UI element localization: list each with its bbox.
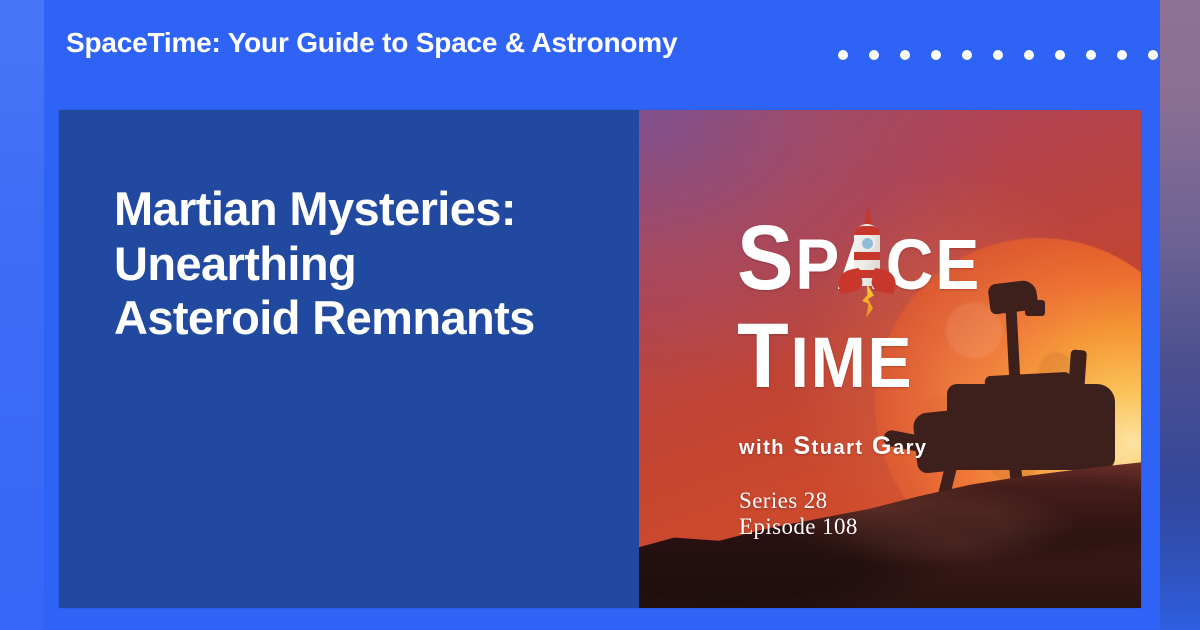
- episode-title-line: Martian Mysteries:: [114, 182, 624, 237]
- dot-icon: [962, 50, 972, 60]
- dot-icon: [900, 50, 910, 60]
- host-last-rest: ary: [893, 437, 928, 459]
- dot-icon: [1086, 50, 1096, 60]
- dot-icon: [931, 50, 941, 60]
- dot-decoration-row: [838, 50, 1158, 60]
- podcast-show-title: SpaceTime: Your Guide to Space & Astrono…: [66, 27, 677, 59]
- dot-icon: [993, 50, 1003, 60]
- artwork-logo-time-rest: IME: [791, 323, 914, 403]
- share-card-canvas: SpaceTime: Your Guide to Space & Astrono…: [0, 0, 1200, 630]
- dot-icon: [1024, 50, 1034, 60]
- artwork-series-label: Series 28: [739, 488, 828, 514]
- episode-title-line: Unearthing: [114, 237, 624, 292]
- podcast-cover-artwork: SPACE TIME with Stuart Gary Series 28 Ep…: [639, 110, 1141, 608]
- host-first-rest: tuart: [812, 437, 864, 459]
- dot-icon: [869, 50, 879, 60]
- dot-icon: [1117, 50, 1127, 60]
- episode-card: Martian Mysteries: Unearthing Asteroid R…: [59, 110, 1141, 608]
- dot-icon: [1055, 50, 1065, 60]
- artwork-logo-space-cap: S: [737, 207, 795, 309]
- host-last-cap: G: [872, 432, 893, 460]
- artwork-logo-time: TIME: [737, 310, 913, 402]
- header-bar: SpaceTime: Your Guide to Space & Astrono…: [0, 0, 1200, 110]
- episode-title: Martian Mysteries: Unearthing Asteroid R…: [114, 182, 624, 346]
- artwork-logo-time-cap: T: [737, 305, 791, 407]
- rocket-icon: [840, 208, 896, 320]
- host-credit-prefix: with: [739, 437, 785, 459]
- artwork-episode-label: Episode 108: [739, 514, 858, 540]
- episode-text-panel: Martian Mysteries: Unearthing Asteroid R…: [59, 110, 639, 608]
- episode-title-line: Asteroid Remnants: [114, 291, 624, 346]
- dot-icon: [1148, 50, 1158, 60]
- host-first-cap: S: [793, 432, 811, 460]
- dot-icon: [838, 50, 848, 60]
- artwork-host-credit: with Stuart Gary: [739, 432, 928, 461]
